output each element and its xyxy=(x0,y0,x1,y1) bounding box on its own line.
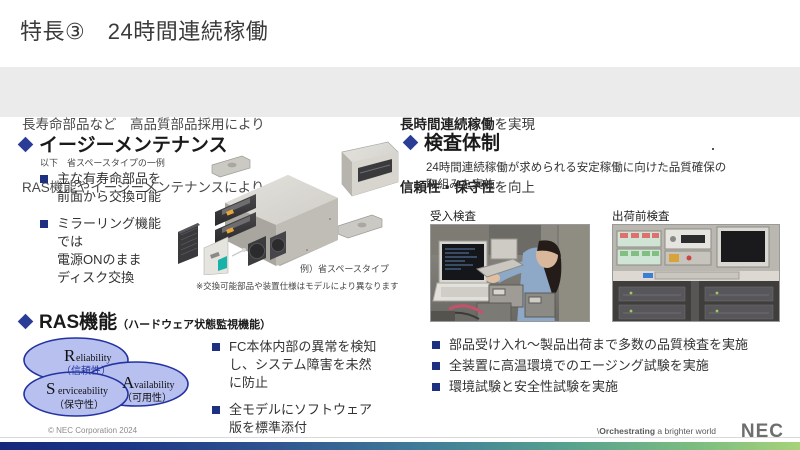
bullet-item: 全モデルにソフトウェア 版を標準添付 xyxy=(212,401,412,437)
photo-label-preshipment-inspection: 出荷前検査 xyxy=(612,208,670,224)
bullet-text: 部品受け入れ～製品出荷まで多数の品質検査を実施 xyxy=(449,336,748,354)
diamond-bullet-icon xyxy=(403,135,419,151)
bullet-item: FC本体内部の異常を検知 し、システム障害を未然 に防止 xyxy=(212,338,412,392)
product-photo-note: ※交換可能部品や装置仕様はモデルにより異なります xyxy=(196,280,398,292)
ras-venn-diagram: R eliability （信頼性） A vailability （可用性） S… xyxy=(14,332,214,424)
nec-tagline: \Orchestrating a brighter world xyxy=(597,426,716,436)
tagline-bold: Orchestrating xyxy=(599,426,655,436)
footer-gradient-bar xyxy=(0,442,800,450)
product-photo-svg xyxy=(170,140,400,275)
summary-banner: 長寿命部品など 高品質部品採用により RAS機能やイージーメンテナンスにより 長… xyxy=(0,67,800,117)
diamond-bullet-icon xyxy=(18,314,34,330)
venn-jp-reliability: （信頼性） xyxy=(61,364,111,377)
venn-jp-serviceability: （保守性） xyxy=(54,398,104,411)
bullet-item: ミラーリング機能 では 電源ONのまま ディスク交換 xyxy=(40,215,170,287)
bullet-text: 環境試験と安全性試験を実施 xyxy=(449,378,618,396)
square-bullet-icon xyxy=(212,406,220,414)
ras-bullets: FC本体内部の異常を検知 し、システム障害を未然 に防止 全モデルにソフトウェア… xyxy=(212,338,412,446)
bullet-text: 全装置に高温環境でのエージング試験を実施 xyxy=(449,357,709,375)
tagline-rest: a brighter world xyxy=(655,426,716,436)
square-bullet-icon xyxy=(432,362,440,370)
easy-maintenance-bullets: 主な有寿命部品を 前面から交換可能 ミラーリング機能 では 電源ONのまま ディ… xyxy=(40,170,170,296)
bullet-item: 部品受け入れ～製品出荷まで多数の品質検査を実施 xyxy=(432,336,782,354)
square-bullet-icon xyxy=(40,220,48,228)
inspection-description: 24時間連続稼働が求められる安定稼働に向けた品質確保の 取組みを実施 xyxy=(426,160,776,194)
bullet-text: ミラーリング機能 では 電源ONのまま ディスク交換 xyxy=(57,215,161,287)
slide-canvas: 特長③ 24時間連続稼働 長寿命部品など 高品質部品採用により RAS機能やイー… xyxy=(0,0,800,450)
ras-subtitle: （ハードウェア状態監視機能） xyxy=(117,316,271,332)
diamond-bullet-icon xyxy=(18,137,34,153)
bullet-text: FC本体内部の異常を検知 し、システム障害を未然 に防止 xyxy=(229,338,376,392)
venn-initial-r: R xyxy=(64,346,76,365)
venn-word-reliability: eliability xyxy=(76,353,112,364)
square-bullet-icon xyxy=(212,343,220,351)
venn-jp-availability: （可用性） xyxy=(122,391,172,404)
photo-incoming-svg xyxy=(431,225,590,322)
photo-incoming-inspection xyxy=(430,224,590,322)
photo-label-incoming-inspection: 受入検査 xyxy=(430,208,476,224)
venn-word-serviceability: erviceability xyxy=(58,386,108,397)
bullet-text: 主な有寿命部品を 前面から交換可能 xyxy=(57,170,161,206)
ras-heading: RAS機能 （ハードウェア状態監視機能） xyxy=(20,307,271,334)
square-bullet-icon xyxy=(432,341,440,349)
product-exploded-view-photo xyxy=(170,140,400,275)
photo-preshipment-svg xyxy=(613,225,780,322)
photo-preshipment-inspection xyxy=(612,224,780,322)
venn-initial-s: S xyxy=(46,379,55,398)
inspection-bullets: 部品受け入れ～製品出荷まで多数の品質検査を実施 全装置に高温環境でのエージング試… xyxy=(432,336,782,399)
inspection-title: 検査体制 xyxy=(424,128,500,155)
easy-maintenance-caption: 以下 省スペースタイプの一例 xyxy=(40,156,165,169)
ras-title: RAS機能 xyxy=(39,307,117,334)
bullet-item: 全装置に高温環境でのエージング試験を実施 xyxy=(432,357,782,375)
square-bullet-icon xyxy=(40,175,48,183)
product-photo-caption: 例）省スペースタイプ xyxy=(300,262,389,275)
decorative-dot xyxy=(712,148,714,150)
bullet-item: 環境試験と安全性試験を実施 xyxy=(432,378,782,396)
copyright-text: © NEC Corporation 2024 xyxy=(48,426,137,435)
inspection-heading: 検査体制 xyxy=(405,128,500,155)
venn-svg: R eliability （信頼性） A vailability （可用性） S… xyxy=(14,332,214,424)
square-bullet-icon xyxy=(432,383,440,391)
bullet-item: 主な有寿命部品を 前面から交換可能 xyxy=(40,170,170,206)
bullet-text: 全モデルにソフトウェア 版を標準添付 xyxy=(229,401,372,437)
page-title: 特長③ 24時間連続稼働 xyxy=(20,14,268,46)
nec-logo: NEC xyxy=(741,421,784,443)
banner-right-line-1-rest: を実現 xyxy=(495,117,536,132)
venn-word-availability: vailability xyxy=(134,380,175,391)
footer-divider xyxy=(0,437,800,438)
